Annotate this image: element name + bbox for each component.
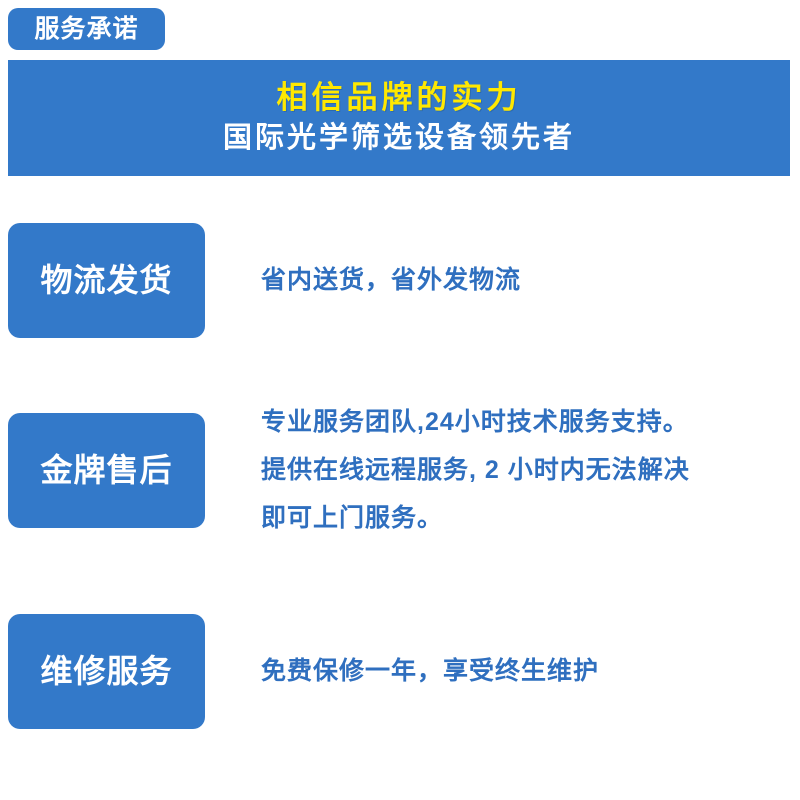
feature-badge-after-sales: 金牌售后 <box>8 413 205 528</box>
feature-description-line: 专业服务团队,24小时技术服务支持。 <box>261 398 790 446</box>
feature-badge-label: 金牌售后 <box>40 454 172 486</box>
feature-badge-label: 物流发货 <box>40 264 172 296</box>
feature-description-logistics: 省内送货，省外发物流 <box>261 265 800 295</box>
hero-title: 相信品牌的实力 <box>277 80 522 117</box>
feature-row: 维修服务 免费保修一年，享受终生维护 <box>0 613 800 729</box>
service-commitment-page: 服务承诺 相信品牌的实力 国际光学筛选设备领先者 物流发货 省内送货，省外发物流… <box>0 0 800 800</box>
feature-description-repair: 免费保修一年，享受终生维护 <box>261 656 800 686</box>
top-section-badge-label: 服务承诺 <box>34 17 138 42</box>
feature-description-line: 提供在线远程服务, 2 小时内无法解决 <box>261 446 790 494</box>
feature-description-after-sales: 专业服务团队,24小时技术服务支持。 提供在线远程服务, 2 小时内无法解决 即… <box>261 398 800 542</box>
top-section-badge: 服务承诺 <box>8 8 165 50</box>
feature-description-line: 即可上门服务。 <box>261 494 790 542</box>
feature-description-line: 省内送货，省外发物流 <box>261 265 790 295</box>
feature-badge-logistics: 物流发货 <box>8 223 205 338</box>
feature-badge-label: 维修服务 <box>40 655 172 687</box>
hero-subtitle: 国际光学筛选设备领先者 <box>223 120 575 156</box>
feature-badge-repair: 维修服务 <box>8 614 205 729</box>
feature-description-line: 免费保修一年，享受终生维护 <box>261 656 790 686</box>
feature-row: 物流发货 省内送货，省外发物流 <box>0 222 800 338</box>
hero-banner: 相信品牌的实力 国际光学筛选设备领先者 <box>8 60 790 176</box>
feature-row: 金牌售后 专业服务团队,24小时技术服务支持。 提供在线远程服务, 2 小时内无… <box>0 412 800 528</box>
